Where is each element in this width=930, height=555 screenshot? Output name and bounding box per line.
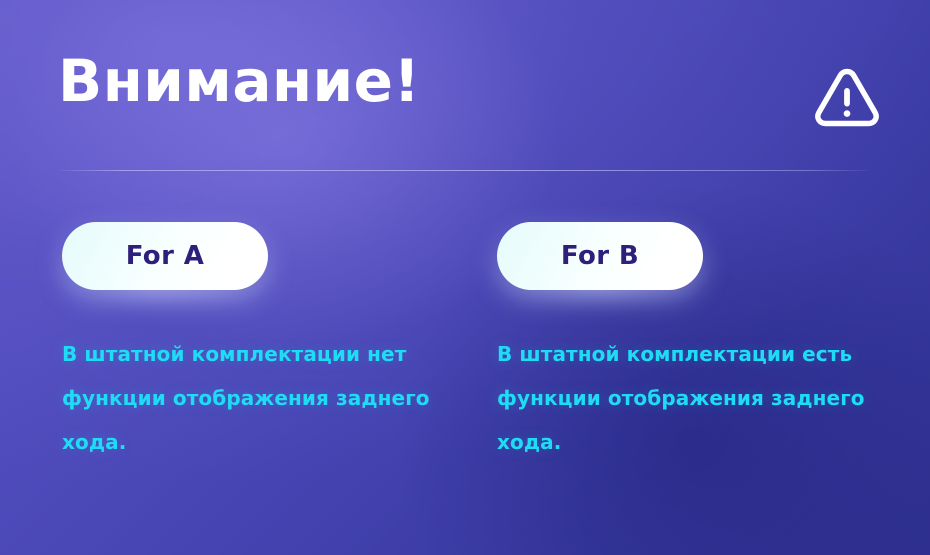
pill-label-for-a: For A [126,243,205,269]
pill-wrapper-b: For B [497,222,703,290]
description-for-b: В штатной комплектации есть функции отоб… [497,290,887,464]
header-divider [60,170,870,171]
slide-content: Внимание! For A В штатной комплектации н… [0,0,930,555]
pill-button-for-a[interactable]: For A [62,222,268,290]
column-for-a: For A В штатной комплектации нет функции… [62,222,474,464]
column-for-b: For B В штатной комплектации есть функци… [497,222,909,464]
pill-wrapper-a: For A [62,222,268,290]
pill-label-for-b: For B [561,243,639,269]
slide-root: Внимание! For A В штатной комплектации н… [0,0,930,555]
pill-button-for-b[interactable]: For B [497,222,703,290]
warning-triangle-icon [812,62,882,132]
page-title: Внимание! [58,52,420,110]
description-for-a: В штатной комплектации нет функции отобр… [62,290,452,464]
